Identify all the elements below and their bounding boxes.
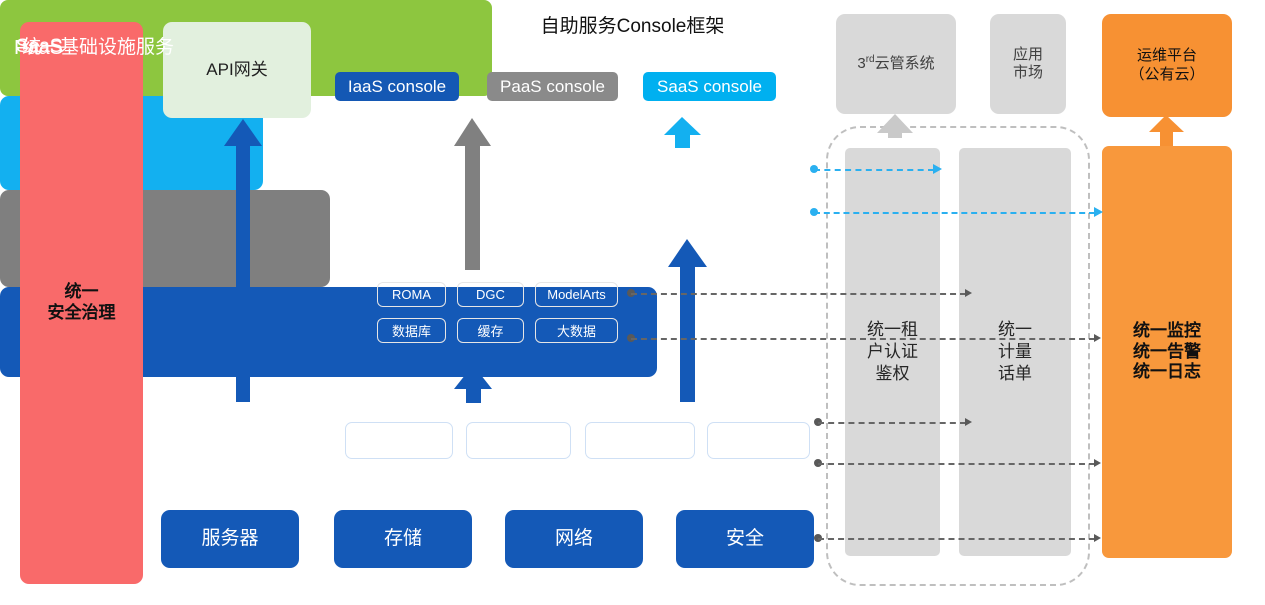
architecture-diagram: 统一 安全治理 API网关 自助服务Console框架 IaaS console…: [0, 0, 1265, 605]
connector-arrowhead-paas-auth: [965, 289, 972, 297]
ops-monitoring-column: 统一监控 统一告警 统一日志: [1102, 146, 1232, 558]
third-party-cloud-management-box: 3rd云管系统: [836, 14, 956, 114]
console-framework-title: 自助服务Console框架: [0, 11, 1265, 38]
connector-arrowhead-paas-ops: [1094, 334, 1101, 342]
connector-arrowhead-infra-auth: [965, 418, 972, 426]
connector-arrowhead-saas-ops: [1094, 207, 1103, 217]
third-party-cloud-management-label: 3rd云管系统: [857, 54, 934, 73]
unified-auth-line2: 户认证: [867, 341, 918, 363]
saas-item-iot[interactable]: IoT: [723, 159, 795, 187]
arrow-saas-to-console: [664, 117, 701, 148]
infra-item-cce-label: CCE: [738, 430, 778, 452]
paas-console-label: PaaS console: [500, 77, 605, 97]
paas-console-chip[interactable]: PaaS console: [487, 72, 618, 101]
paas-item-cache[interactable]: 缓存: [457, 318, 524, 343]
infrastructure-label: 统一基础设施服务: [22, 0, 174, 90]
saas-item-video-cloud[interactable]: 视频云: [637, 196, 716, 224]
saas-item-video-cloud-label: 视频云: [654, 200, 699, 221]
unified-billing-column: 统一 计量 话单: [959, 148, 1071, 556]
ops-platform-line2: （公有云）: [1129, 66, 1204, 84]
paas-item-roma-label: ROMA: [392, 287, 431, 302]
resource-box-server-label: 服务器: [201, 527, 258, 550]
ops-column-line1: 统一监控: [1133, 321, 1201, 342]
arrow-ops-column-to-ops-platform: [1149, 115, 1184, 146]
infra-item-storage-label: Storage: [485, 430, 552, 452]
saas-item-desktop-cloud[interactable]: 桌面云: [723, 196, 795, 224]
paas-item-database-label: 数据库: [392, 321, 431, 340]
third-party-prefix: 3: [857, 55, 865, 72]
ops-platform-line1: 运维平台: [1129, 47, 1204, 65]
security-governance-panel: 统一 安全治理: [20, 22, 143, 584]
app-market-line1: 应用: [1013, 46, 1043, 64]
resource-box-storage[interactable]: 存储: [334, 510, 472, 568]
ops-platform-box: 运维平台 （公有云）: [1102, 14, 1232, 117]
saas-console-chip[interactable]: SaaS console: [643, 72, 776, 101]
connector-infra-to-ops: [818, 463, 1095, 465]
resource-box-network-label: 网络: [555, 527, 593, 550]
infra-item-cce[interactable]: CCE: [707, 422, 810, 459]
api-gateway-label: API网关: [206, 60, 267, 81]
connector-paas-to-ops: [631, 338, 1095, 340]
iaas-console-label: IaaS console: [348, 77, 446, 97]
unified-billing-line2: 计量: [998, 341, 1032, 363]
infra-item-compute-label: Compute: [360, 430, 437, 452]
arrow-infra-to-saas: [668, 239, 707, 402]
connector-saas-to-ops: [814, 212, 1095, 214]
connector-resources-to-ops: [818, 538, 1095, 540]
connector-infra-to-auth: [818, 422, 966, 424]
unified-auth-column: 统一租 户认证 鉴权: [845, 148, 940, 556]
saas-item-iot-label: IoT: [748, 165, 770, 182]
saas-item-desktop-cloud-label: 桌面云: [736, 200, 781, 221]
paas-item-bigdata[interactable]: 大数据: [535, 318, 618, 343]
paas-item-modelarts[interactable]: ModelArts: [535, 282, 618, 307]
paas-item-cache-label: 缓存: [477, 321, 503, 340]
infra-item-compute[interactable]: Compute: [345, 422, 453, 459]
third-party-suffix: 云管系统: [875, 55, 935, 72]
ops-column-line2: 统一告警: [1133, 342, 1201, 363]
connector-paas-to-auth: [631, 293, 966, 295]
resource-box-security[interactable]: 安全: [676, 510, 814, 568]
paas-item-bigdata-label: 大数据: [557, 321, 596, 340]
saas-item-blockchain[interactable]: 区块链: [637, 159, 716, 187]
unified-auth-line3: 鉴权: [867, 363, 918, 385]
app-market-line2: 市场: [1013, 64, 1043, 82]
ops-column-line3: 统一日志: [1133, 362, 1201, 383]
paas-item-dgc[interactable]: DGC: [457, 282, 524, 307]
connector-saas-to-auth: [814, 169, 934, 171]
resource-box-security-label: 安全: [726, 527, 764, 550]
arrow-paas-to-console: [454, 118, 491, 270]
iaas-console-chip[interactable]: IaaS console: [335, 72, 459, 101]
resource-box-server[interactable]: 服务器: [161, 510, 299, 568]
paas-item-database[interactable]: 数据库: [377, 318, 446, 343]
paas-item-dgc-label: DGC: [476, 287, 505, 302]
connector-arrowhead-resources-ops: [1094, 534, 1101, 542]
app-market-box: 应用 市场: [990, 14, 1066, 114]
saas-item-blockchain-label: 区块链: [654, 163, 699, 184]
paas-item-roma[interactable]: ROMA: [377, 282, 446, 307]
resource-box-storage-label: 存储: [384, 527, 422, 550]
infra-item-network[interactable]: Network: [585, 422, 695, 459]
security-governance-line2: 安全治理: [48, 303, 116, 324]
third-party-superscript: rd: [866, 54, 875, 65]
paas-item-modelarts-label: ModelArts: [547, 287, 606, 302]
security-governance-line1: 统一: [48, 282, 116, 303]
connector-arrowhead-infra-ops: [1094, 459, 1101, 467]
saas-console-label: SaaS console: [657, 77, 762, 97]
connector-arrowhead-saas-auth: [933, 164, 942, 174]
infra-item-network-label: Network: [605, 430, 675, 452]
infra-item-storage[interactable]: Storage: [466, 422, 571, 459]
resource-box-network[interactable]: 网络: [505, 510, 643, 568]
unified-billing-line3: 话单: [998, 363, 1032, 385]
